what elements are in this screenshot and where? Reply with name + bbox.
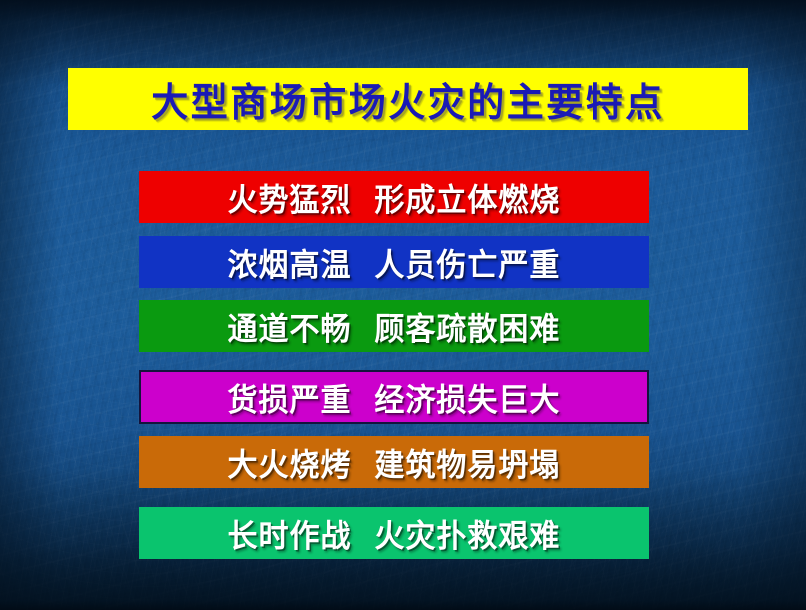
feature-row-6-label: 长时作战 火灾扑救艰难	[228, 510, 561, 556]
feature-row-3: 通道不畅 顾客疏散困难	[139, 300, 649, 352]
slide-title-banner: 大型商场市场火灾的主要特点	[68, 68, 748, 130]
feature-row-1-label: 火势猛烈 形成立体燃烧	[228, 174, 561, 220]
feature-row-4: 货损严重 经济损失巨大	[139, 370, 649, 424]
feature-row-3-label: 通道不畅 顾客疏散困难	[228, 303, 561, 349]
feature-row-5-label: 大火烧烤 建筑物易坍塌	[228, 439, 561, 485]
feature-row-4-label: 货损严重 经济损失巨大	[228, 374, 561, 420]
feature-row-2: 浓烟高温 人员伤亡严重	[139, 236, 649, 288]
feature-row-6: 长时作战 火灾扑救艰难	[139, 507, 649, 559]
feature-row-1: 火势猛烈 形成立体燃烧	[139, 171, 649, 223]
feature-row-5: 大火烧烤 建筑物易坍塌	[139, 436, 649, 488]
feature-row-2-label: 浓烟高温 人员伤亡严重	[228, 239, 561, 285]
slide-title: 大型商场市场火灾的主要特点	[151, 70, 665, 127]
presentation-slide: 大型商场市场火灾的主要特点 火势猛烈 形成立体燃烧 浓烟高温 人员伤亡严重 通道…	[0, 0, 806, 610]
